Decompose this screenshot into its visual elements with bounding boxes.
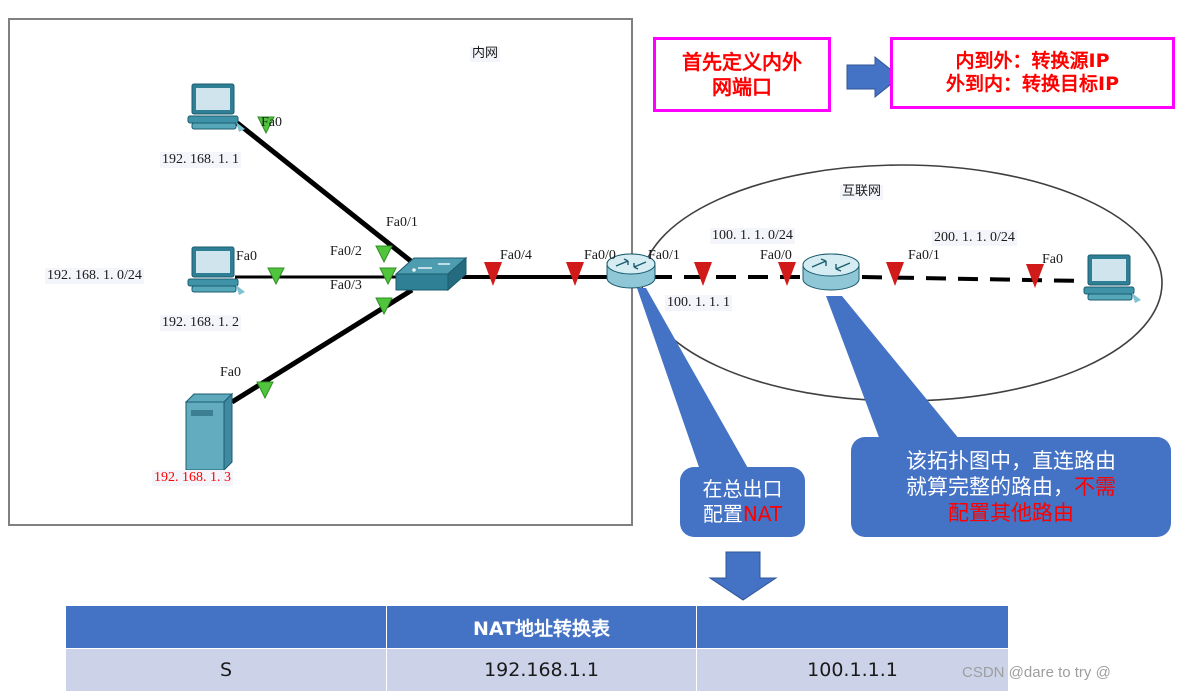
pc1-ip-label: 192. 168. 1. 1	[160, 152, 241, 168]
pc1-interface-label: Fa0	[261, 115, 282, 131]
note-define-ports-line1: 首先定义内外	[682, 50, 802, 74]
switch-interface-fa01-label: Fa0/1	[386, 215, 418, 231]
note-direction-rules-line2: 外到内：转换目标IP	[946, 73, 1119, 96]
device-pc1[interactable]	[186, 82, 248, 139]
device-pc-remote[interactable]	[1082, 253, 1144, 310]
device-switch[interactable]	[392, 252, 470, 305]
nat-translation-table: NAT地址转换表 S 192.168.1.1 100.1.1.1	[65, 605, 1009, 692]
nat-header-col3	[697, 606, 1009, 649]
nat-header-col2: NAT地址转换表	[387, 606, 697, 649]
callout-routing-line3: 配置其他路由	[948, 500, 1074, 526]
callout-nat-exit-line1: 在总出口	[703, 477, 783, 502]
flow-arrow-down	[710, 552, 776, 600]
note-define-ports: 首先定义内外 网端口	[653, 37, 831, 112]
pc2-ip-label: 192. 168. 1. 2	[160, 315, 241, 331]
router-edge-fa00-label: Fa0/0	[584, 248, 616, 264]
router-isp-fa01-label: Fa0/1	[908, 248, 940, 264]
callout-nat-exit-line2-highlight: NAT	[743, 502, 782, 526]
nat-cell-inside-local: 192.168.1.1	[387, 649, 697, 692]
router-edge-ip-label: 100. 1. 1. 1	[665, 295, 732, 311]
callout-routing-line2: 就算完整的路由，不需	[906, 474, 1116, 500]
table-header-row: NAT地址转换表	[66, 606, 1009, 649]
server-interface-label: Fa0	[220, 365, 241, 381]
switch-interface-fa02-label: Fa0/2	[330, 244, 362, 260]
callout-routing: 该拓扑图中，直连路由 就算完整的路由，不需 配置其他路由	[851, 437, 1171, 537]
note-direction-rules: 内到外：转换源IP 外到内：转换目标IP	[890, 37, 1175, 109]
note-direction-rules-line1: 内到外：转换源IP	[956, 50, 1110, 73]
switch-interface-fa04-label: Fa0/4	[500, 248, 532, 264]
link-isp-remotepc	[862, 277, 1085, 281]
internal-network-label: 内网	[470, 47, 500, 62]
callout-routing-line1: 该拓扑图中，直连路由	[906, 448, 1116, 474]
callout-routing-line2-highlight: 不需	[1074, 475, 1116, 499]
callout-nat-exit-line2: 配置NAT	[703, 502, 782, 527]
watermark-text: CSDN @dare to try @	[962, 664, 1111, 681]
callout-tail-routing	[826, 296, 960, 440]
callout-routing-line2-prefix: 就算完整的路由，	[906, 475, 1074, 499]
nat-header-col1	[66, 606, 387, 649]
device-router-isp[interactable]	[800, 250, 862, 303]
note-define-ports-line2: 网端口	[712, 75, 772, 99]
router-isp-fa00-label: Fa0/0	[760, 248, 792, 264]
callout-nat-exit: 在总出口 配置NAT	[680, 467, 805, 537]
internet-label: 互联网	[840, 185, 883, 200]
callout-tail-nat	[637, 288, 749, 470]
nat-cell-direction: S	[66, 649, 387, 692]
callout-nat-exit-line2-prefix: 配置	[703, 502, 743, 526]
table-row: S 192.168.1.1 100.1.1.1	[66, 649, 1009, 692]
lan-subnet-label: 192. 168. 1. 0/24	[45, 268, 144, 284]
router-edge-fa01-label: Fa0/1	[648, 248, 680, 264]
diagram-canvas: 内网	[0, 0, 1185, 696]
wan-200-subnet-label: 200. 1. 1. 0/24	[932, 230, 1017, 246]
wan-100-subnet-label: 100. 1. 1. 0/24	[710, 228, 795, 244]
pc-remote-interface-label: Fa0	[1042, 252, 1063, 268]
server-ip-label: 192. 168. 1. 3	[152, 470, 233, 486]
pc2-interface-label: Fa0	[236, 249, 257, 265]
switch-interface-fa03-label: Fa0/3	[330, 278, 362, 294]
